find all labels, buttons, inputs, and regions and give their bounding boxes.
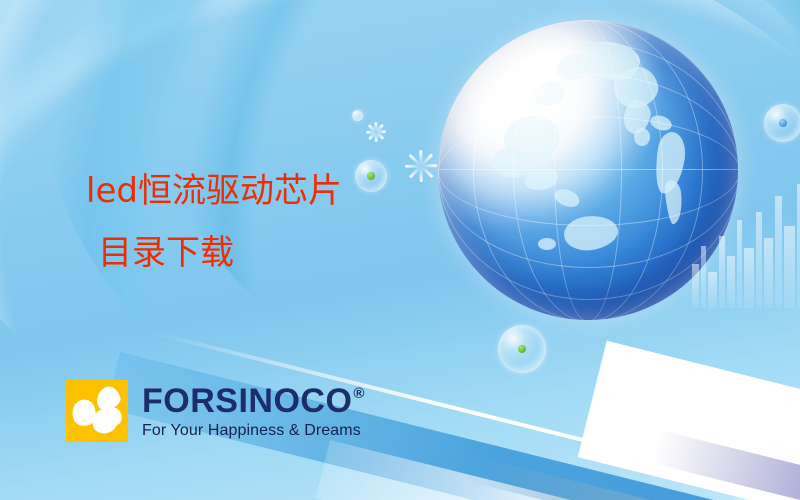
four-petal-flower-icon (66, 380, 128, 442)
bubble-small-upper (352, 110, 363, 121)
logo-company-name-text: FORSINOCO (142, 384, 352, 418)
logo-tagline: For Your Happiness & Dreams (142, 423, 365, 439)
promo-banner: led恒流驱动芯片 目录下载 FORSINOCO ® For Your Happ… (0, 0, 800, 500)
headline: led恒流驱动芯片 目录下载 (86, 160, 342, 284)
logo-company-name: FORSINOCO ® (142, 384, 365, 418)
logo-text-block: FORSINOCO ® For Your Happiness & Dreams (142, 384, 365, 439)
headline-line-2: 目录下载 (86, 222, 342, 284)
starburst-small (366, 122, 386, 142)
headline-line-1: led恒流驱动芯片 (86, 160, 342, 222)
corner-white-wedge (578, 341, 800, 500)
bubble-with-green-sprout-lower (498, 325, 546, 373)
company-logo: FORSINOCO ® For Your Happiness & Dreams (66, 380, 365, 442)
registered-trademark-icon: ® (353, 386, 365, 401)
bubble-right-edge (764, 104, 800, 142)
bubble-with-green-sprout-left (355, 160, 387, 192)
earth-globe-icon (438, 20, 738, 320)
starburst-large (405, 150, 437, 182)
